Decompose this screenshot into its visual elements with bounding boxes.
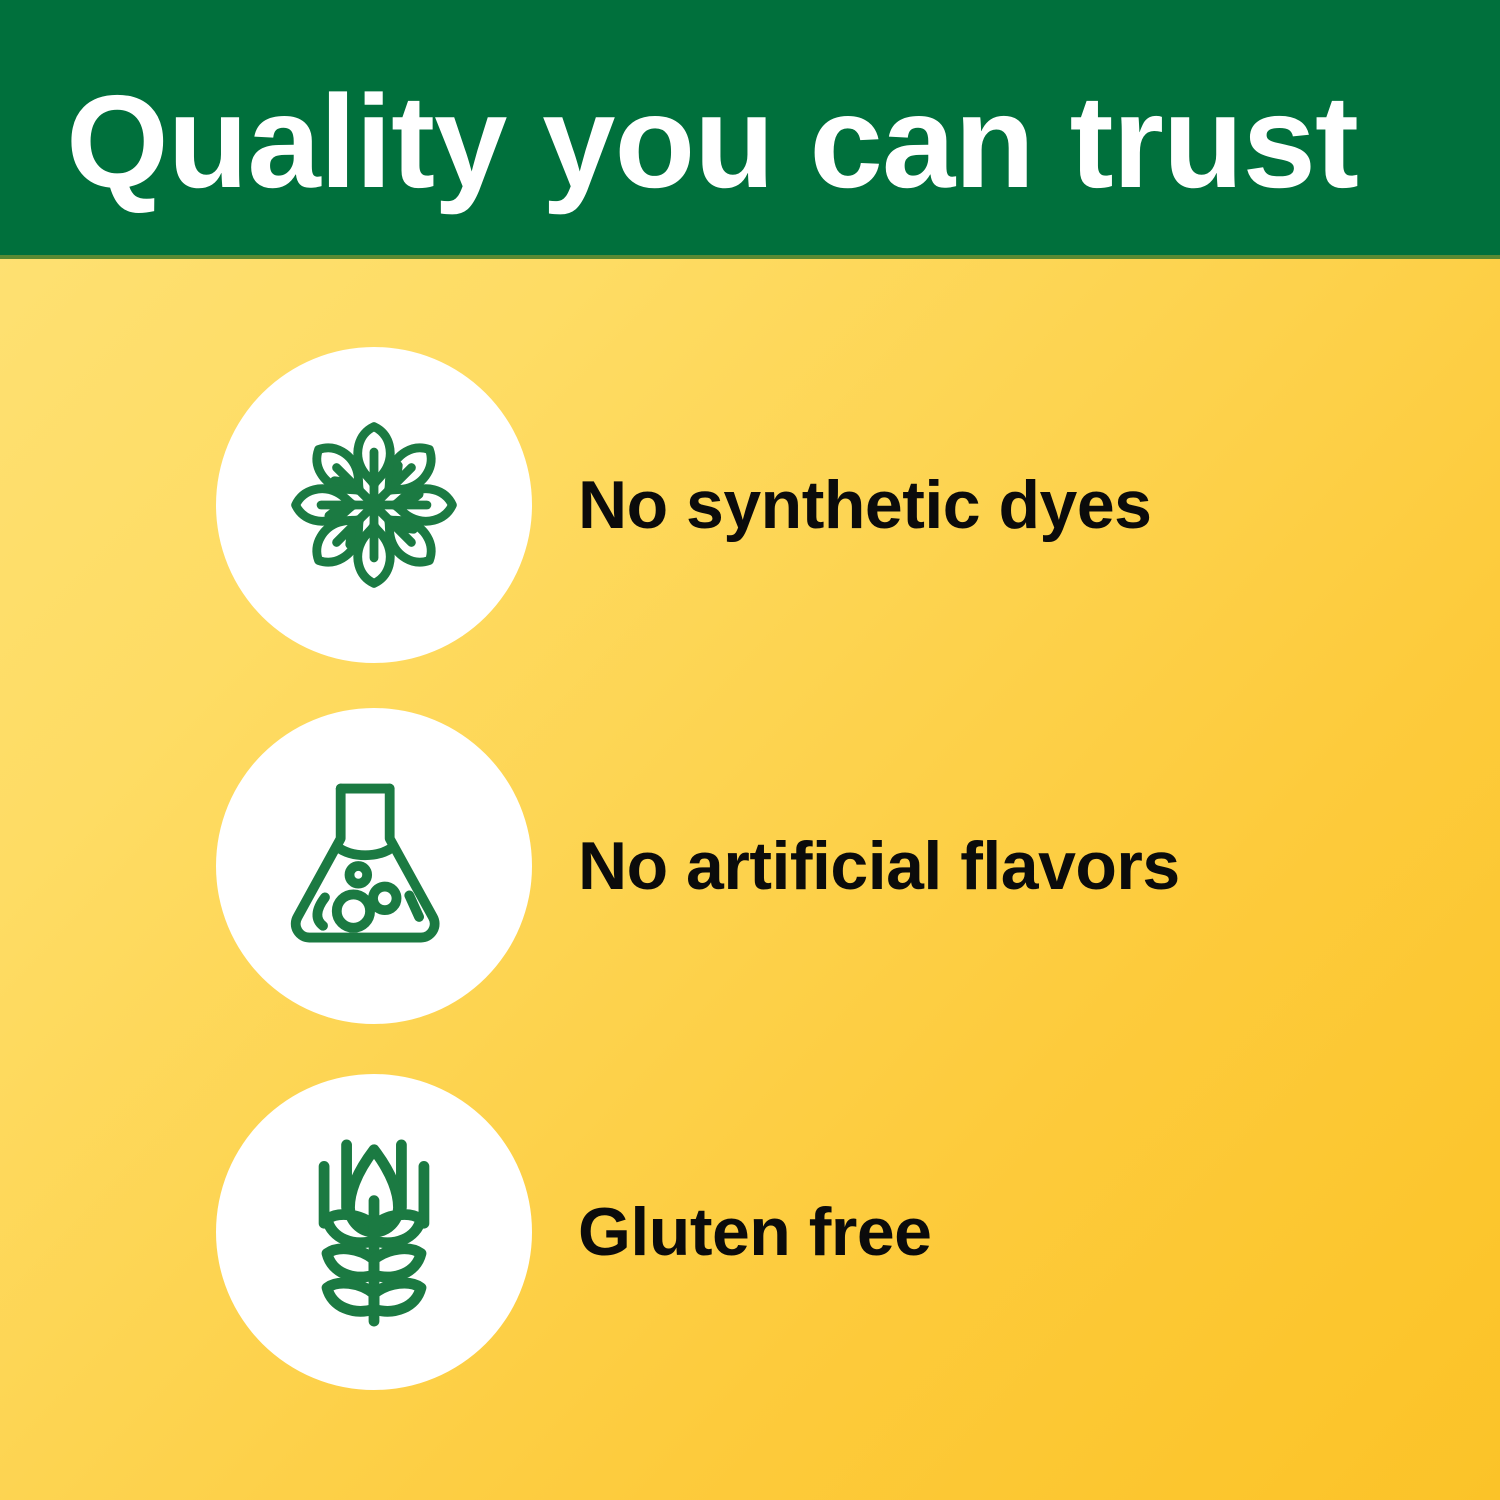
feature-row: No synthetic dyes — [0, 345, 1500, 665]
icon-badge-no-artificial-flavors — [216, 708, 532, 1024]
feature-label-no-artificial-flavors: No artificial flavors — [578, 832, 1180, 900]
feature-row: Gluten free — [0, 1072, 1500, 1392]
feature-label-gluten-free: Gluten free — [578, 1198, 931, 1266]
feature-label-no-synthetic-dyes: No synthetic dyes — [578, 471, 1151, 539]
icon-badge-gluten-free — [216, 1074, 532, 1390]
promo-graphic: Quality you can trust — [0, 0, 1500, 1500]
flower-petals-icon — [276, 407, 472, 603]
feature-row: No artificial flavors — [0, 706, 1500, 1026]
page-title: Quality you can trust — [66, 76, 1466, 208]
erlenmeyer-flask-icon — [276, 768, 472, 964]
icon-badge-no-synthetic-dyes — [216, 347, 532, 663]
wheat-stalk-icon — [281, 1129, 467, 1335]
